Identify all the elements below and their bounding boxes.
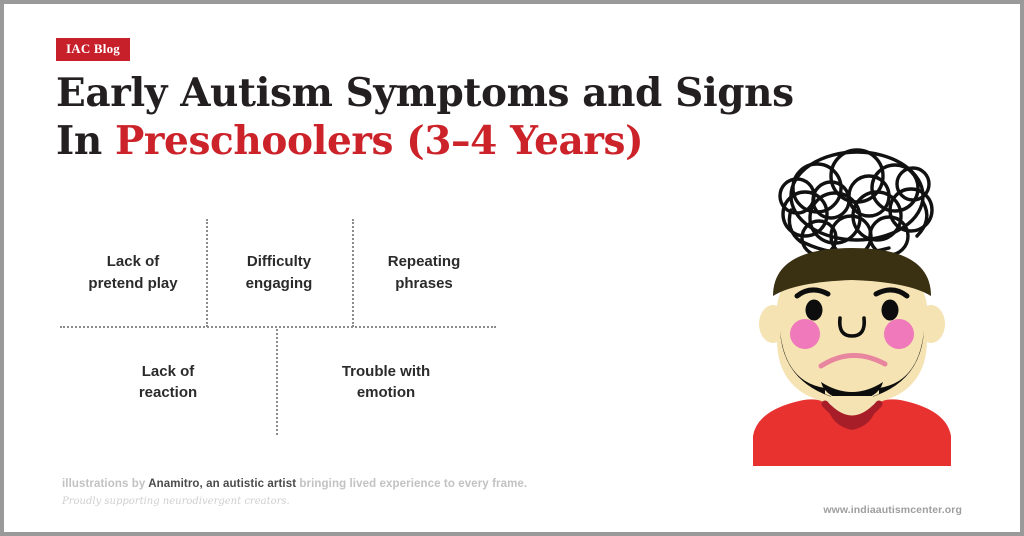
symptom-line-1: Trouble with [342,363,430,380]
credit-suffix: bringing lived experience to every frame… [296,478,527,490]
symptom-line-1: Difficulty [247,253,311,270]
title-line-1: Early Autism Symptoms and Signs [56,70,794,116]
footer-tagline: Proudly supporting neurodivergent creato… [62,496,290,507]
credit-artist-name: Anamitro, an autistic artist [148,478,296,490]
blush-right [884,319,914,349]
illustration-credit: illustrations by Anamitro, an autistic a… [62,478,527,490]
symptom-line-1: Lack of [107,253,160,270]
grid-divider-horizontal [60,326,496,328]
title-line-2-accent: Preschoolers (3–4 Years) [115,118,643,164]
symptom-line-2: reaction [139,384,197,401]
symptoms-row-bottom: Lack of reaction Trouble with emotion [60,330,496,434]
symptom-line-1: Lack of [142,363,195,380]
blush-left [790,319,820,349]
symptom-line-1: Repeating [388,253,461,270]
symptom-cell-trouble-with-emotion: Trouble with emotion [276,330,496,434]
symptom-line-2: pretend play [88,275,177,292]
infographic-canvas: IAC Blog Early Autism Symptoms and Signs… [0,0,1024,536]
title-line-2-prefix: In [56,118,115,164]
page-title: Early Autism Symptoms and Signs In Presc… [56,70,796,165]
symptom-cell-lack-of-reaction: Lack of reaction [60,330,276,434]
eye-left [806,300,823,321]
illustration-worried-boy [739,144,989,474]
grid-divider-vertical-3 [276,329,278,435]
grid-divider-vertical-2 [352,219,354,327]
symptoms-row-top: Lack of pretend play Difficulty engaging… [60,218,496,327]
iac-blog-badge: IAC Blog [56,38,130,61]
symptom-line-2: phrases [395,275,453,292]
eye-right [882,300,899,321]
tangled-thoughts-scribble [780,150,932,256]
site-url: www.indiaautismcenter.org [823,504,962,516]
grid-divider-vertical-1 [206,219,208,327]
symptom-cell-repeating-phrases: Repeating phrases [352,218,496,327]
symptom-line-2: emotion [357,384,415,401]
credit-prefix: illustrations by [62,478,148,490]
symptom-line-2: engaging [246,275,313,292]
symptom-cell-lack-of-pretend-play: Lack of pretend play [60,218,206,327]
symptom-cell-difficulty-engaging: Difficulty engaging [206,218,352,327]
